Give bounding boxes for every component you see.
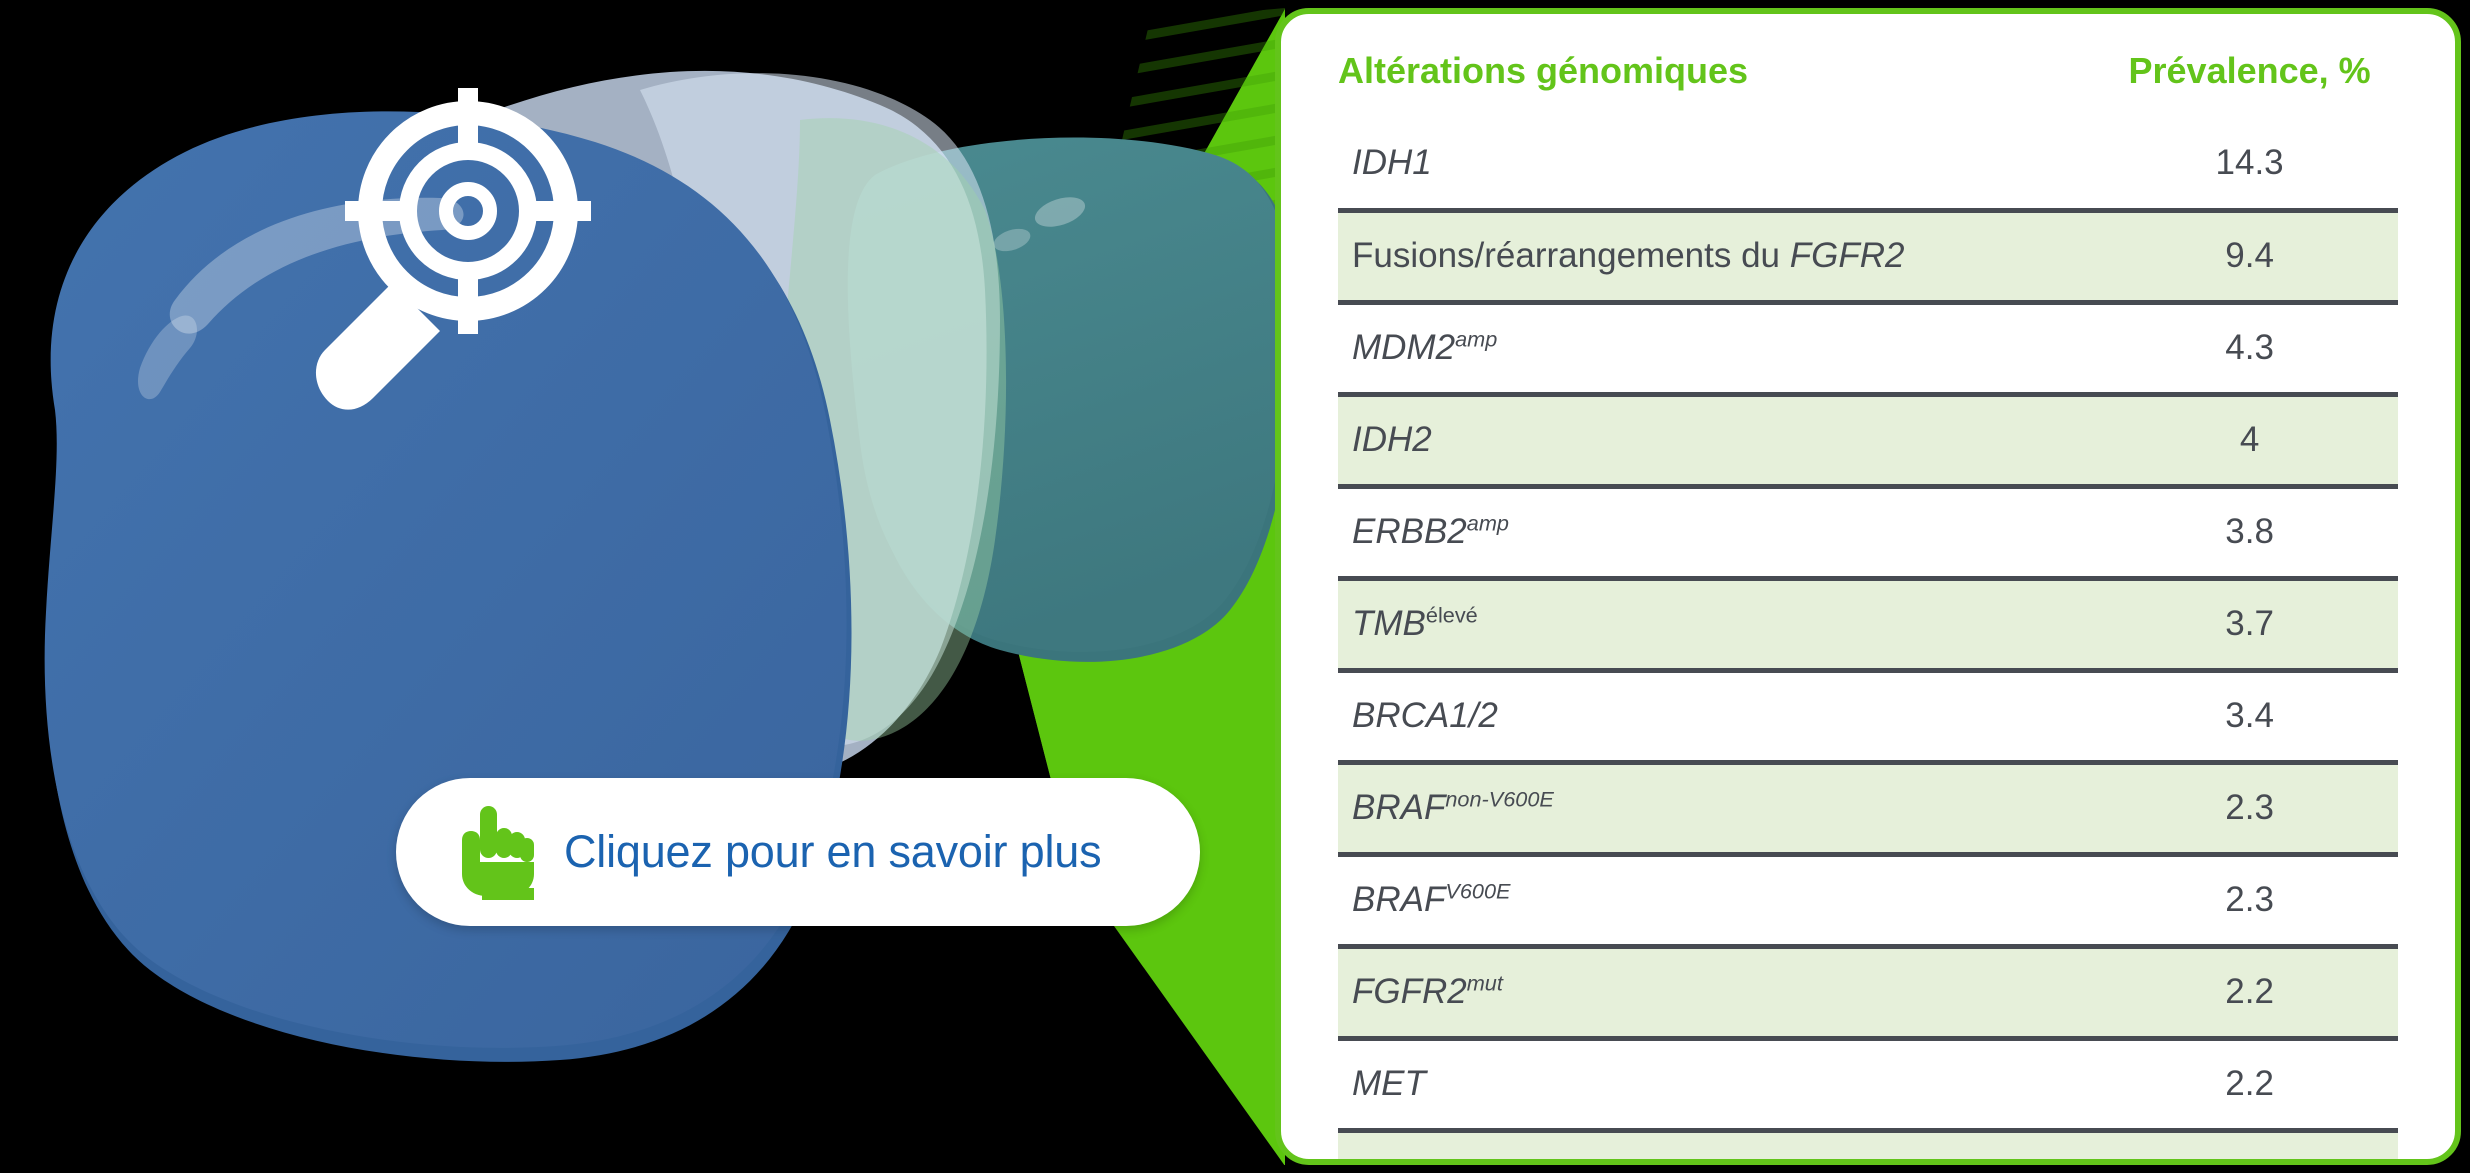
alteration-superscript: V600E <box>1445 878 1510 903</box>
table-row: ERBB2amp3.8 <box>1338 486 2398 578</box>
alteration-superscript: amp <box>1467 510 1509 535</box>
cell-prevalence: 14.3 <box>2101 118 2398 210</box>
table-row: ERBB2mut1.6 <box>1338 1130 2398 1165</box>
cell-prevalence: 2.2 <box>2101 1038 2398 1130</box>
alteration-gene: FGFR2 <box>1352 972 1467 1011</box>
alteration-gene: IDH1 <box>1352 143 1432 182</box>
infographic-stage: Cliquez pour en savoir plus Altérations … <box>0 0 2470 1173</box>
table-row: IDH24 <box>1338 394 2398 486</box>
cell-prevalence: 3.8 <box>2101 486 2398 578</box>
cell-alteration: ERBB2mut <box>1338 1130 2101 1165</box>
table-row: BRAFnon-V600E2.3 <box>1338 762 2398 854</box>
cta-label: Cliquez pour en savoir plus <box>564 826 1101 878</box>
cell-prevalence: 9.4 <box>2101 210 2398 302</box>
cell-alteration: IDH1 <box>1338 118 2101 210</box>
cell-prevalence: 3.7 <box>2101 578 2398 670</box>
cell-alteration: MDM2amp <box>1338 302 2101 394</box>
alteration-superscript: mut <box>1467 970 1503 995</box>
cell-prevalence: 2.3 <box>2101 762 2398 854</box>
table-body: IDH114.3Fusions/réarrangements du FGFR29… <box>1338 118 2398 1165</box>
table-row: BRAFV600E2.3 <box>1338 854 2398 946</box>
alteration-gene: BRCA1/2 <box>1352 696 1498 735</box>
alteration-gene: ERBB2 <box>1352 1156 1467 1165</box>
alteration-gene: BRAF <box>1352 788 1445 827</box>
header-row: Altérations génomiques Prévalence, % <box>1338 32 2398 118</box>
table-row: Fusions/réarrangements du FGFR29.4 <box>1338 210 2398 302</box>
table-row: TMBélevé3.7 <box>1338 578 2398 670</box>
alteration-gene: BRAF <box>1352 880 1445 919</box>
alteration-gene: FGFR2 <box>1790 236 1905 275</box>
cell-prevalence: 2.2 <box>2101 946 2398 1038</box>
alteration-gene: MET <box>1352 1064 1426 1103</box>
alteration-superscript: mut <box>1467 1154 1503 1165</box>
alteration-gene: ERBB2 <box>1352 512 1467 551</box>
cell-alteration: MET <box>1338 1038 2101 1130</box>
alteration-superscript: amp <box>1455 326 1497 351</box>
alteration-prefix: Fusions/réarrangements du <box>1352 236 1790 275</box>
cell-alteration: BRAFV600E <box>1338 854 2101 946</box>
genomic-alterations-table: Altérations génomiques Prévalence, % IDH… <box>1338 32 2398 1165</box>
cell-alteration: FGFR2mut <box>1338 946 2101 1038</box>
liver-illustration <box>0 0 1340 1173</box>
cell-alteration: Fusions/réarrangements du FGFR2 <box>1338 210 2101 302</box>
cell-alteration: TMBélevé <box>1338 578 2101 670</box>
table-header: Altérations génomiques Prévalence, % <box>1338 32 2398 118</box>
alteration-gene: MDM2 <box>1352 328 1455 367</box>
pointing-hand-icon <box>452 804 536 900</box>
column-header-prevalence: Prévalence, % <box>2101 32 2398 118</box>
table-row: IDH114.3 <box>1338 118 2398 210</box>
cell-prevalence: 1.6 <box>2101 1130 2398 1165</box>
learn-more-button[interactable]: Cliquez pour en savoir plus <box>396 778 1200 926</box>
genomic-alterations-panel: Altérations génomiques Prévalence, % IDH… <box>1275 8 2461 1165</box>
cell-prevalence: 2.3 <box>2101 854 2398 946</box>
cell-alteration: BRCA1/2 <box>1338 670 2101 762</box>
cell-alteration: ERBB2amp <box>1338 486 2101 578</box>
cell-prevalence: 4.3 <box>2101 302 2398 394</box>
alteration-superscript: élevé <box>1426 602 1478 627</box>
table-row: MDM2amp4.3 <box>1338 302 2398 394</box>
cell-prevalence: 3.4 <box>2101 670 2398 762</box>
column-header-alteration: Altérations génomiques <box>1338 32 2101 118</box>
table-row: BRCA1/23.4 <box>1338 670 2398 762</box>
table-row: FGFR2mut2.2 <box>1338 946 2398 1038</box>
table-row: MET2.2 <box>1338 1038 2398 1130</box>
alteration-gene: TMB <box>1352 604 1426 643</box>
alteration-superscript: non-V600E <box>1445 786 1554 811</box>
cell-alteration: BRAFnon-V600E <box>1338 762 2101 854</box>
cell-alteration: IDH2 <box>1338 394 2101 486</box>
alteration-gene: IDH2 <box>1352 420 1432 459</box>
cell-prevalence: 4 <box>2101 394 2398 486</box>
